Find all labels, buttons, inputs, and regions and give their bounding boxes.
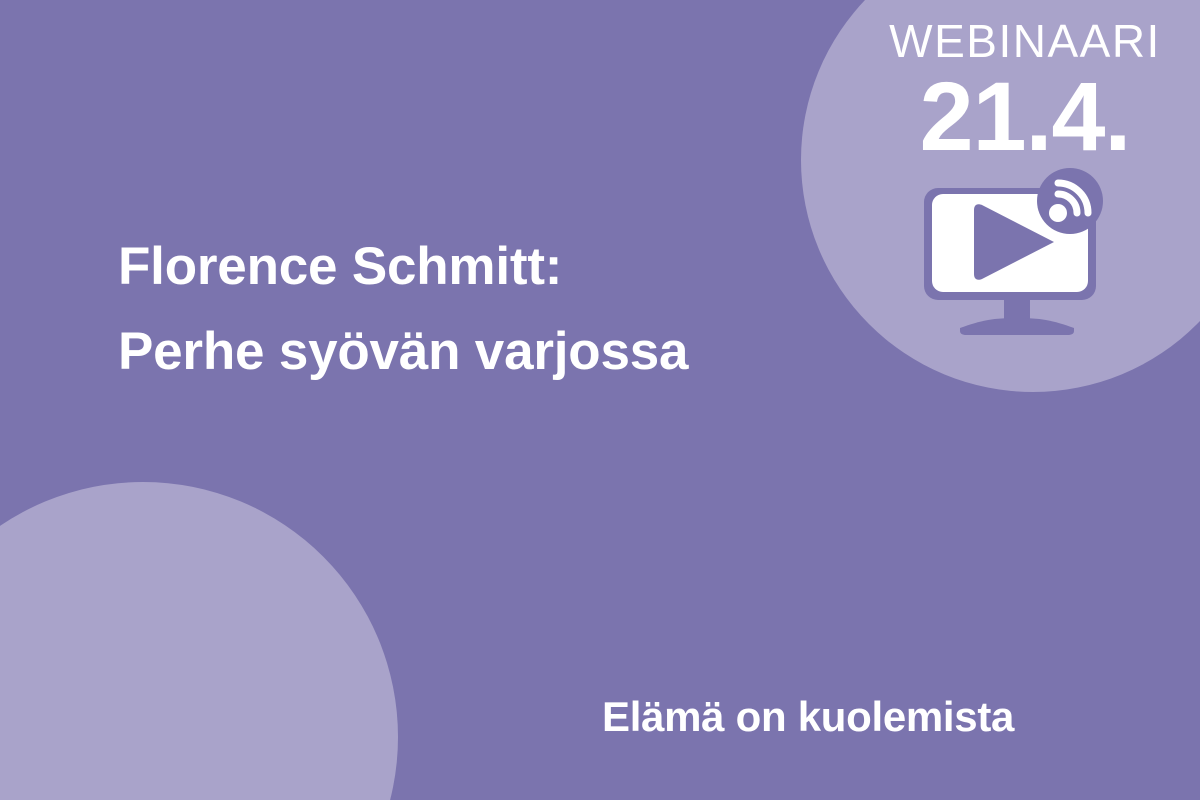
webinar-label: WEBINAARI [860, 18, 1190, 64]
webinar-date: 21.4. [860, 68, 1190, 167]
webcast-monitor-icon [908, 168, 1126, 340]
webinar-badge: WEBINAARI 21.4. [860, 18, 1190, 167]
page-title-line-1: Florence Schmitt: [118, 225, 838, 310]
promo-banner: WEBINAARI 21.4. [0, 0, 1200, 800]
signal-dot-icon [1049, 204, 1067, 222]
monitor-neck-shape [1004, 298, 1030, 320]
page-title-line-2: Perhe syövän varjossa [118, 310, 838, 395]
decorative-circle-bottom-left [0, 482, 398, 800]
monitor-base-shape [960, 318, 1074, 335]
page-title: Florence Schmitt: Perhe syövän varjossa [118, 225, 838, 395]
series-title: Elämä on kuolemista [602, 693, 1014, 741]
